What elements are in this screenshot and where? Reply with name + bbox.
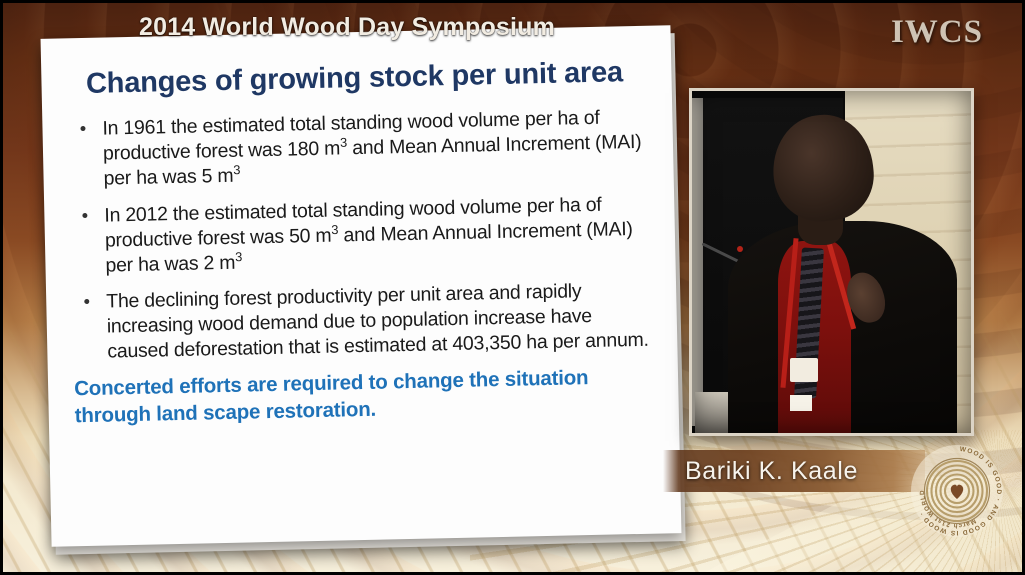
slide-title: Changes of growing stock per unit area — [63, 54, 646, 104]
list-item: The declining forest productivity per un… — [74, 278, 652, 366]
speaker-name: Bariki K. Kaale — [663, 457, 858, 486]
slide-panel: Changes of growing stock per unit area I… — [41, 25, 682, 547]
microphone-tip — [737, 246, 743, 252]
emblem-graphic: WOOD IS GOOD · AND GOOD IS WOOD · March … — [903, 437, 1011, 545]
speaker-photo-image — [692, 91, 971, 433]
list-item-text: In 2012 the estimated total standing woo… — [104, 193, 633, 276]
slide-paper: Changes of growing stock per unit area I… — [41, 25, 682, 547]
list-item: In 2012 the estimated total standing woo… — [72, 191, 650, 279]
slide-bullet-list: In 1961 the estimated total standing woo… — [64, 105, 651, 366]
photo-name-badge-lower — [790, 395, 812, 410]
speaker-name-bar: Bariki K. Kaale — [663, 450, 925, 492]
world-wood-day-emblem: WOOD IS GOOD · AND GOOD IS WOOD · March … — [903, 437, 1011, 545]
photo-name-badge — [790, 358, 818, 382]
bullet-dot-icon — [82, 212, 87, 217]
iwcs-logo: IWCS — [891, 14, 983, 51]
bullet-dot-icon — [84, 299, 89, 304]
bullet-dot-icon — [80, 126, 85, 131]
slide-closing-statement: Concerted efforts are required to change… — [70, 364, 653, 430]
list-item: In 1961 the estimated total standing woo… — [70, 105, 648, 193]
page-title: 2014 World Wood Day Symposium — [139, 13, 555, 42]
speaker-photo — [689, 88, 974, 436]
photo-board-edge — [692, 98, 703, 426]
list-item-text: In 1961 the estimated total standing woo… — [102, 107, 641, 190]
presentation-screenshot: 2014 World Wood Day Symposium IWCS Chang… — [0, 0, 1025, 575]
list-item-text: The declining forest productivity per un… — [106, 280, 649, 363]
